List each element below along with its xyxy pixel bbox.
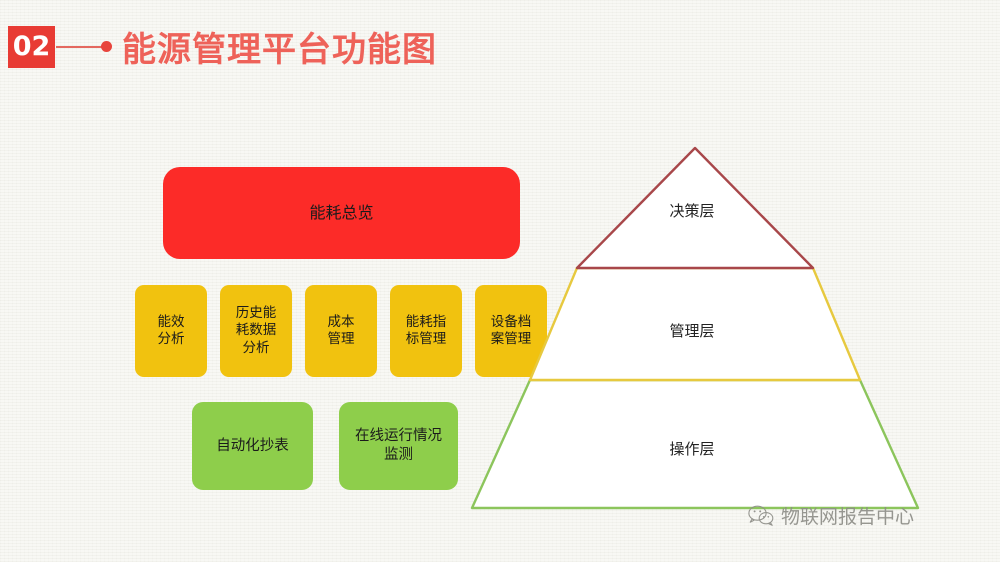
wechat-logo-icon [748,505,774,526]
pyramid-label-operation-layer: 操作层 [669,438,714,459]
function-box-energy-index-management[interactable]: 能耗指标管理 [390,285,462,377]
function-box-cost-management[interactable]: 成本管理 [305,285,377,377]
page-title: 能源管理平台功能图 [122,22,437,71]
header-connector-line [56,46,104,48]
watermark-text: 物联网报告中心 [781,502,914,529]
section-number-badge: 02 [8,26,55,68]
pyramid-label-management-layer: 管理层 [669,320,714,341]
slide-canvas: 02 能源管理平台功能图 能耗总览 能效分析 历史能耗数据分析 成本管理 能耗指… [0,0,1000,562]
function-box-historical-energy-data-analysis[interactable]: 历史能耗数据分析 [220,285,292,377]
pyramid-label-decision-layer: 决策层 [669,200,714,221]
function-box-energy-efficiency-analysis[interactable]: 能效分析 [135,285,207,377]
watermark: 物联网报告中心 [748,502,914,529]
function-box-automatic-meter-reading[interactable]: 自动化抄表 [192,402,313,490]
header-connector-dot-icon [101,41,112,52]
function-box-online-operation-monitoring[interactable]: 在线运行情况监测 [339,402,458,490]
